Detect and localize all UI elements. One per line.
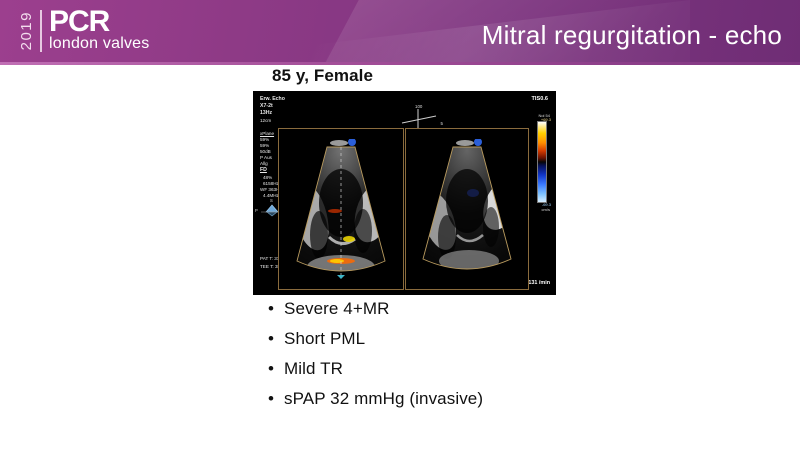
list-item: • Mild TR — [268, 358, 738, 379]
echo-framerate-label: 13Hz — [260, 111, 272, 117]
bullet-marker-icon: • — [268, 298, 284, 319]
echo-fd-line-1: 6158Hz — [263, 181, 279, 187]
bullet-text: Short PML — [284, 328, 365, 349]
logo-year: 2019 — [18, 11, 34, 50]
list-item: • sPAP 32 mmHg (invasive) — [268, 388, 738, 409]
logo-wordmark: PCR london valves — [49, 9, 149, 53]
logo-brand: PCR — [49, 9, 149, 35]
echo-canvas: Erw. Echo X7-2t 13Hz 12cm TIS0.6 MI 0.3 … — [253, 91, 556, 295]
page-title: Mitral regurgitation - echo — [482, 20, 782, 51]
echo-modality-label: Erw. Echo — [260, 97, 285, 103]
echo-xplane-line-1: 59% — [260, 143, 269, 149]
echo-panel-right — [405, 128, 529, 290]
bullet-text: Mild TR — [284, 358, 343, 379]
echo-xplane-line-2: 50dB — [260, 149, 271, 155]
bullet-text: Severe 4+MR — [284, 298, 390, 319]
echo-sector-right — [415, 139, 519, 283]
color-scale-unit: cm/s — [542, 207, 550, 212]
patient-demographics: 85 y, Female — [272, 66, 373, 86]
orientation-left-label: P — [255, 208, 258, 213]
logo-subtitle: london valves — [49, 35, 149, 53]
bullet-text: sPAP 32 mmHg (invasive) — [284, 388, 483, 409]
color-doppler-scale — [537, 121, 547, 203]
rotation-secondary-angle: 5 — [441, 121, 443, 126]
bullet-marker-icon: • — [268, 328, 284, 349]
pcr-london-valves-logo: 2019 PCR london valves — [18, 6, 149, 56]
orientation-top-label: S — [270, 198, 273, 203]
echo-thermal-index: TIS0.6 — [532, 97, 548, 103]
findings-list: • Severe 4+MR • Short PML • Mild TR • sP… — [268, 298, 738, 418]
header-bottom-rule — [0, 62, 800, 65]
slide-header-banner: 2019 PCR london valves Mitral regurgitat… — [0, 0, 800, 62]
rotation-primary-angle: 100 — [415, 104, 422, 109]
echo-xplane-line-3: P Aus — [260, 155, 272, 161]
echo-fd-line-0: 48% — [263, 175, 272, 181]
echo-sector-left — [289, 139, 393, 283]
echo-xplane-line-0: 59% — [260, 137, 269, 143]
list-item: • Short PML — [268, 328, 738, 349]
color-scale-upper-value: +69.3 — [541, 117, 551, 122]
list-item: • Severe 4+MR — [268, 298, 738, 319]
bullet-marker-icon: • — [268, 358, 284, 379]
echocardiogram-image: Erw. Echo X7-2t 13Hz 12cm TIS0.6 MI 0.3 … — [253, 91, 556, 295]
bullet-marker-icon: • — [268, 388, 284, 409]
echo-panel-left — [278, 128, 404, 290]
echo-depth-label: 12cm — [260, 118, 271, 124]
logo-divider — [40, 10, 42, 52]
echo-xplane-title: xPlane — [260, 131, 274, 137]
echo-heart-rate: 131 /min — [528, 281, 550, 287]
echo-probe-label: X7-2t — [260, 104, 273, 110]
echo-fd-title: FD — [260, 168, 267, 174]
slide: 2019 PCR london valves Mitral regurgitat… — [0, 0, 800, 450]
echo-xplane-line-4: Allg — [260, 161, 268, 167]
